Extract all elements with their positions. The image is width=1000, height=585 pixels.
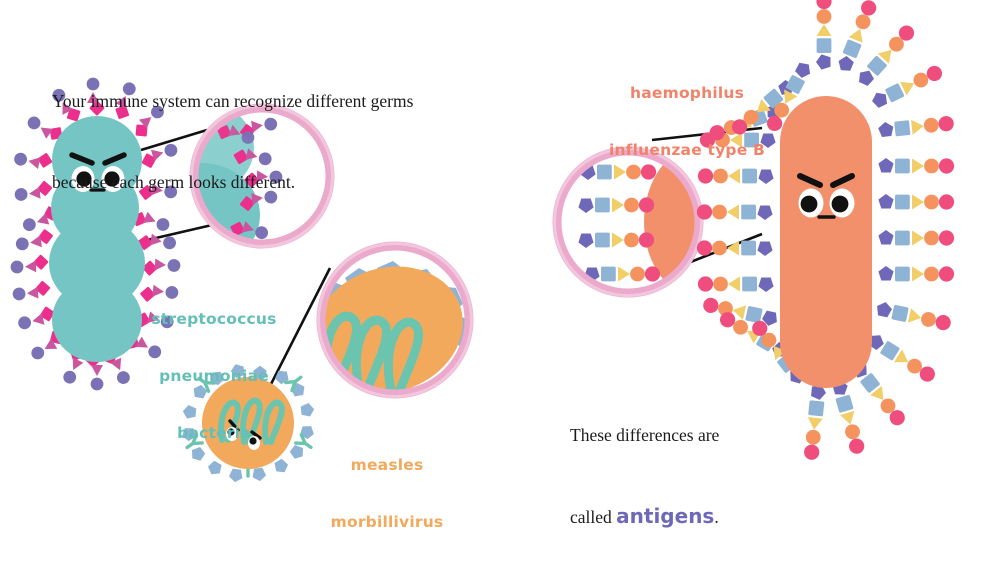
closing-suffix: . xyxy=(714,507,718,527)
illustration-canvas: Your immune system can recognize differe… xyxy=(0,0,1000,500)
eye-left-pupil xyxy=(801,196,818,213)
eye-right-pupil xyxy=(832,196,849,213)
magnifier-measles xyxy=(297,242,480,412)
label-measles-line-2: morbillivirus xyxy=(318,513,456,532)
haemophilus-body xyxy=(780,96,872,388)
label-streptococcus: streptococcus pneumoniae bacteria xyxy=(143,272,285,481)
closing-line-2: called antigens. xyxy=(570,503,719,531)
label-haem-line-1: haemophilus xyxy=(598,84,776,103)
label-measles: measles morbillivirus xyxy=(318,418,456,570)
intro-line-2: because each germ looks different. xyxy=(52,169,413,196)
closing-line-1: These differences are xyxy=(570,422,719,449)
label-strep-line-1: streptococcus xyxy=(143,310,285,329)
label-strep-line-3: bacteria xyxy=(143,424,285,443)
label-measles-line-1: measles xyxy=(318,456,456,475)
label-haem-line-2: influenzae type B xyxy=(598,141,776,160)
label-strep-line-2: pneumoniae xyxy=(143,367,285,386)
antigens-keyword: antigens xyxy=(616,504,714,528)
intro-text: Your immune system can recognize differe… xyxy=(52,34,413,250)
label-haemophilus: haemophilus influenzae type B xyxy=(598,46,776,198)
closing-text: These differences are called antigens. xyxy=(570,368,719,585)
intro-line-1: Your immune system can recognize differe… xyxy=(52,88,413,115)
closing-prefix: called xyxy=(570,507,616,527)
